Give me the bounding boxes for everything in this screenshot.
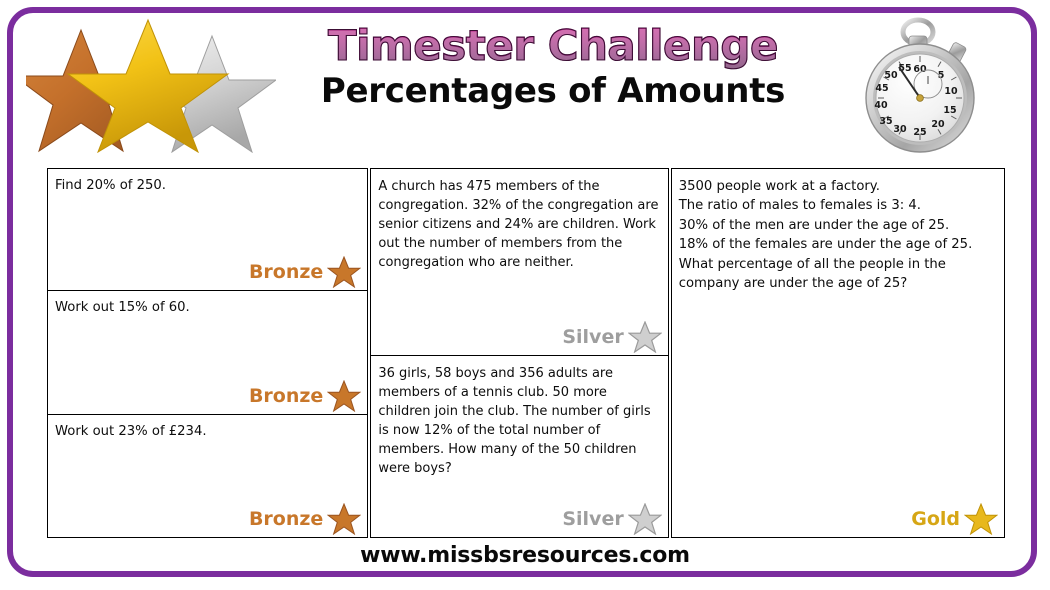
header: Timester Challenge Percentages of Amount… [0, 0, 1050, 158]
svg-text:50: 50 [884, 70, 898, 81]
question-cell-silver-2[interactable]: 36 girls, 58 boys and 356 adults are mem… [370, 356, 668, 538]
question-cell-gold-1[interactable]: 3500 people work at a factory. The ratio… [671, 168, 1005, 538]
question-cell-bronze-2[interactable]: Work out 15% of 60. Bronze [47, 291, 368, 414]
medal-badge-silver: Silver [562, 503, 661, 535]
gold-star-logo [68, 20, 228, 152]
question-text: 3500 people work at a factory. The ratio… [679, 177, 997, 293]
bronze-star-icon [327, 380, 361, 412]
svg-text:45: 45 [875, 83, 888, 94]
question-text: A church has 475 members of the congrega… [378, 177, 660, 272]
svg-text:15: 15 [943, 105, 956, 116]
three-stars-logo [26, 18, 276, 153]
stopwatch-icon: 60 5 10 15 20 25 30 35 40 45 50 55 [852, 14, 1012, 158]
medal-label: Bronze [249, 385, 323, 407]
question-text: Work out 23% of £234. [55, 423, 360, 442]
svg-text:30: 30 [893, 124, 907, 135]
medal-label: Silver [562, 326, 623, 348]
svg-text:40: 40 [874, 100, 888, 111]
title-block: Timester Challenge Percentages of Amount… [288, 22, 818, 112]
medal-label: Bronze [249, 508, 323, 530]
medal-badge-gold: Gold [911, 503, 998, 535]
question-text: Find 20% of 250. [55, 177, 360, 196]
svg-text:10: 10 [944, 86, 958, 97]
question-cell-bronze-3[interactable]: Work out 23% of £234. Bronze [47, 415, 368, 538]
question-cell-bronze-1[interactable]: Find 20% of 250. Bronze [47, 168, 368, 291]
silver-star-icon [628, 503, 662, 535]
medal-label: Bronze [249, 261, 323, 283]
medal-badge-bronze: Bronze [249, 503, 361, 535]
page-subtitle: Percentages of Amounts [288, 70, 818, 112]
medal-badge-silver: Silver [562, 321, 661, 353]
medal-label: Silver [562, 508, 623, 530]
question-table: Find 20% of 250. Bronze Work out 15% of … [47, 168, 1005, 538]
column-silver: A church has 475 members of the congrega… [370, 168, 668, 538]
column-bronze: Find 20% of 250. Bronze Work out 15% of … [47, 168, 368, 538]
svg-text:35: 35 [879, 116, 892, 127]
bronze-star-icon [327, 503, 361, 535]
svg-text:20: 20 [931, 119, 945, 130]
silver-star-icon [628, 321, 662, 353]
question-cell-silver-1[interactable]: A church has 475 members of the congrega… [370, 168, 668, 356]
bronze-star-icon [327, 256, 361, 288]
svg-text:60: 60 [913, 64, 927, 75]
gold-star-icon [964, 503, 998, 535]
medal-badge-bronze: Bronze [249, 380, 361, 412]
medal-label: Gold [911, 508, 960, 530]
column-gold: 3500 people work at a factory. The ratio… [671, 168, 1005, 538]
question-text: 36 girls, 58 boys and 356 adults are mem… [378, 364, 660, 478]
footer-url[interactable]: www.missbsresources.com [0, 543, 1050, 568]
question-text: Work out 15% of 60. [55, 299, 360, 318]
svg-text:25: 25 [913, 127, 926, 138]
page-title: Timester Challenge [288, 22, 818, 70]
medal-badge-bronze: Bronze [249, 256, 361, 288]
